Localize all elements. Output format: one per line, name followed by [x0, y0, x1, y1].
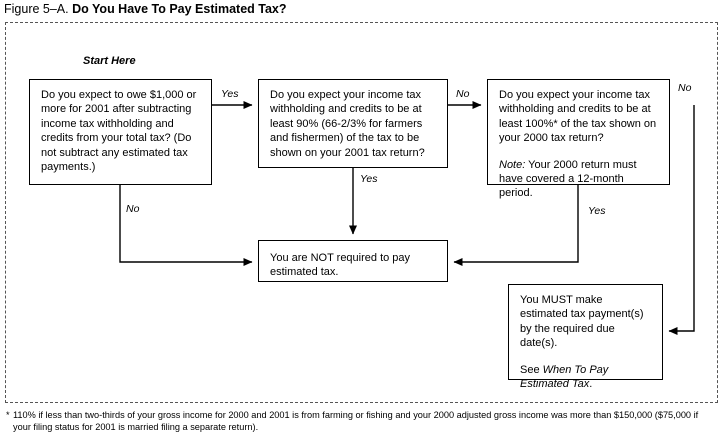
edge-label-no-q1: No [126, 203, 139, 215]
hundred-percent-question-text: Do you expect your income tax withholdin… [499, 88, 660, 146]
must-pay-outcome-text: You MUST make estimated tax payment(s) b… [520, 293, 653, 351]
owe-1000-question-box: Do you expect to owe $1,000 or more for … [29, 79, 212, 185]
footnote-marker: * [6, 409, 10, 421]
footnote: * 110% if less than two-thirds of your g… [6, 409, 718, 433]
edge-label-no-q3: No [678, 82, 691, 94]
edge-label-yes-q3: Yes [588, 205, 606, 217]
ninety-percent-question-text: Do you expect your income tax withholdin… [270, 88, 438, 160]
not-required-outcome-text: You are NOT required to pay estimated ta… [270, 251, 438, 280]
see-suffix: . [589, 378, 592, 390]
figure-5a-flowchart: Figure 5–A. Do You Have To Pay Estimated… [0, 0, 725, 442]
ninety-percent-question-box: Do you expect your income tax withholdin… [258, 79, 448, 168]
see-prefix: See [520, 364, 543, 376]
edge-label-no-q2: No [456, 88, 469, 100]
edge-label-yes-q1: Yes [221, 88, 239, 100]
figure-number: Figure 5–A. [4, 2, 69, 16]
figure-heading: Do You Have To Pay Estimated Tax? [72, 2, 286, 16]
must-pay-see-reference: See When To Pay Estimated Tax. [520, 363, 653, 392]
edge-label-yes-q2: Yes [360, 173, 378, 185]
footnote-text: 110% if less than two-thirds of your gro… [6, 409, 718, 433]
hundred-percent-question-box: Do you expect your income tax withholdin… [487, 79, 670, 185]
start-here-label: Start Here [83, 55, 136, 67]
note-label: Note: [499, 159, 525, 171]
hundred-percent-note: Note: Your 2000 return must have covered… [499, 158, 660, 201]
must-pay-outcome-box: You MUST make estimated tax payment(s) b… [508, 284, 663, 380]
owe-1000-question-text: Do you expect to owe $1,000 or more for … [41, 88, 202, 174]
not-required-outcome-box: You are NOT required to pay estimated ta… [258, 240, 448, 282]
page-title: Figure 5–A. Do You Have To Pay Estimated… [4, 2, 287, 17]
